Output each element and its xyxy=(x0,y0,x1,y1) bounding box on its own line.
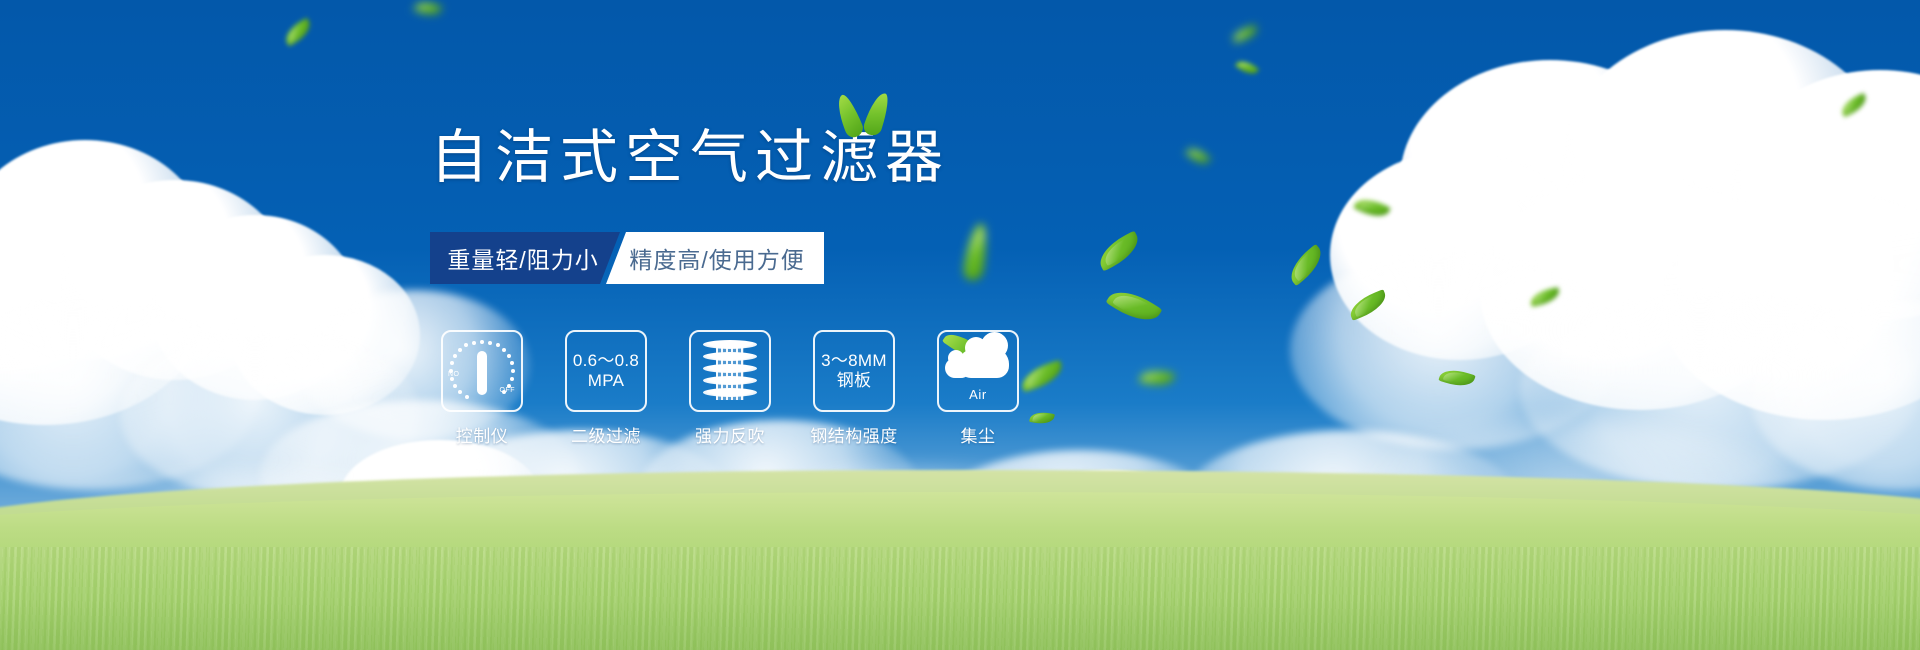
feature-item-steel-strength[interactable]: 3～8MM 钢板 钢结构强度 xyxy=(810,330,898,447)
subtitle-bars: 重量轻/阻力小 精度高/使用方便 xyxy=(430,232,824,284)
cloud-large xyxy=(959,348,1009,378)
page-title: 自洁式空气过滤器 xyxy=(430,128,1130,189)
feature-icon-box: Air xyxy=(937,330,1019,412)
subtitle-bar-primary: 重量轻/阻力小 xyxy=(430,232,620,284)
sprout-leaf-left xyxy=(832,92,865,140)
feature-caption: 控制仪 xyxy=(456,422,509,447)
feature-caption: 强力反吹 xyxy=(695,422,765,447)
feature-item-dust-collection[interactable]: Air 集尘 xyxy=(934,330,1022,447)
sky-background xyxy=(0,0,1920,650)
feature-icon-box: 3～8MM 钢板 xyxy=(813,330,895,412)
feature-item-secondary-filter[interactable]: 0.6～0.8 MPA 二级过滤 xyxy=(562,330,650,447)
pressure-value: 0.6～0.8 xyxy=(573,351,639,371)
subtitle-bar-secondary: 精度高/使用方便 xyxy=(606,232,824,284)
gauge-label-no: NO xyxy=(448,371,460,378)
steel-icon: 3～8MM 钢板 xyxy=(821,351,887,391)
feature-caption: 集尘 xyxy=(961,422,996,447)
feature-icon-box xyxy=(689,330,771,412)
feature-item-reverse-blow[interactable]: 强力反吹 xyxy=(686,330,774,447)
feature-icon-box: NO OFF xyxy=(441,330,523,412)
feature-icon-row: NO OFF 控制仪 0.6～0.8 MPA 二级过滤 xyxy=(438,330,1022,447)
gauge-label-off: OFF xyxy=(500,387,516,394)
feature-caption: 二级过滤 xyxy=(571,422,641,447)
title-block: 自洁式空气过滤器 xyxy=(430,128,1130,189)
sprout-leaf-right xyxy=(862,90,893,137)
pressure-unit: MPA xyxy=(573,371,639,391)
cartridge-icon xyxy=(703,340,757,402)
air-cloud-icon: Air xyxy=(945,342,1011,400)
product-banner: 自洁式空气过滤器 重量轻/阻力小 精度高/使用方便 xyxy=(0,0,1920,650)
gauge-icon: NO OFF xyxy=(449,340,515,402)
feature-icon-box: 0.6～0.8 MPA xyxy=(565,330,647,412)
feature-caption: 钢结构强度 xyxy=(810,422,898,447)
pressure-icon: 0.6～0.8 MPA xyxy=(573,351,639,391)
steel-material: 钢板 xyxy=(821,371,887,391)
air-label: Air xyxy=(945,387,1011,402)
feature-item-controller[interactable]: NO OFF 控制仪 xyxy=(438,330,526,447)
title-sprout-leaves xyxy=(838,92,908,138)
steel-thickness: 3～8MM xyxy=(821,351,887,371)
gauge-needle xyxy=(477,351,487,395)
